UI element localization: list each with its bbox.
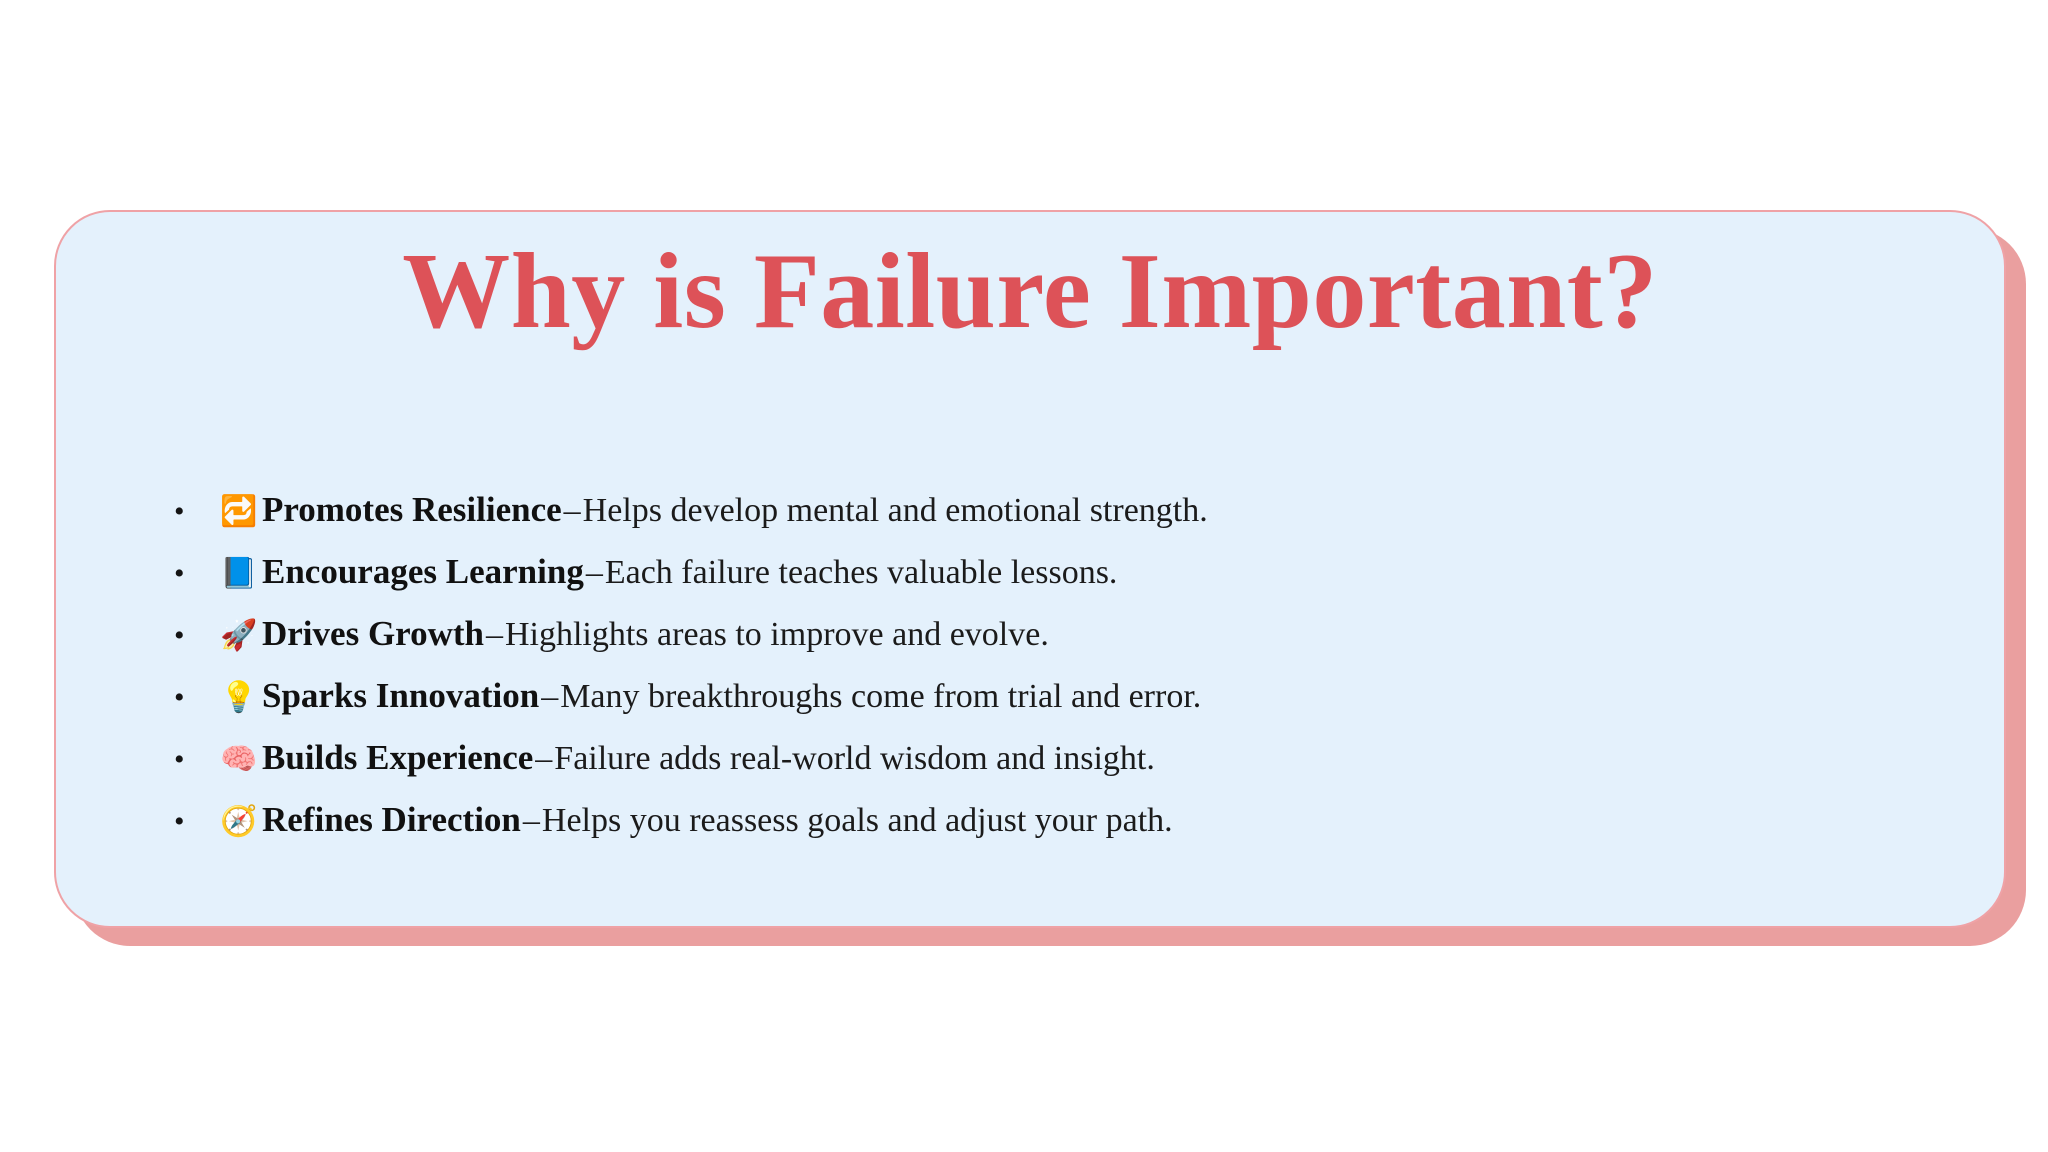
list-item-separator: – [484,616,505,654]
list-item-separator: – [562,492,583,530]
bullet-marker-icon: • [174,559,220,589]
rocket-icon: 🚀 [220,621,262,651]
bullet-marker-icon: • [174,807,220,837]
light-bulb-icon: 💡 [220,683,262,713]
list-item: • 🧠 Builds Experience – Failure adds rea… [174,738,1964,800]
content-card: Why is Failure Important? • 🔁 Promotes R… [54,210,2006,928]
bullet-marker-icon: • [174,497,220,527]
page-title: Why is Failure Important? [56,212,2004,354]
list-item-term: Drives Growth [262,614,484,654]
list-item-term: Sparks Innovation [262,676,539,716]
list-item-description: Helps develop mental and emotional stren… [583,492,1208,530]
list-item-term: Encourages Learning [262,552,584,592]
list-item-separator: – [584,554,605,592]
list-item: • 🔁 Promotes Resilience – Helps develop … [174,490,1964,552]
brain-icon: 🧠 [220,745,262,775]
repeat-icon: 🔁 [220,497,262,527]
list-item-description: Highlights areas to improve and evolve. [505,616,1049,654]
list-item: • 💡 Sparks Innovation – Many breakthroug… [174,676,1964,738]
list-item-term: Promotes Resilience [262,490,562,530]
blue-book-icon: 📘 [220,559,262,589]
bullet-marker-icon: • [174,621,220,651]
compass-icon: 🧭 [220,807,262,837]
benefits-list: • 🔁 Promotes Resilience – Helps develop … [174,490,1964,862]
list-item-description: Failure adds real-world wisdom and insig… [554,740,1155,778]
list-item-separator: – [521,802,542,840]
list-item-separator: – [533,740,554,778]
bullet-marker-icon: • [174,745,220,775]
list-item-description: Many breakthroughs come from trial and e… [560,678,1201,716]
list-item: • 📘 Encourages Learning – Each failure t… [174,552,1964,614]
list-item-separator: – [539,678,560,716]
list-item-term: Builds Experience [262,738,533,778]
list-item: • 🧭 Refines Direction – Helps you reasse… [174,800,1964,862]
slide-canvas: Why is Failure Important? • 🔁 Promotes R… [0,0,2048,1152]
list-item-description: Helps you reassess goals and adjust your… [542,802,1173,840]
list-item-term: Refines Direction [262,800,521,840]
list-item-description: Each failure teaches valuable lessons. [605,554,1118,592]
list-item: • 🚀 Drives Growth – Highlights areas to … [174,614,1964,676]
bullet-marker-icon: • [174,683,220,713]
